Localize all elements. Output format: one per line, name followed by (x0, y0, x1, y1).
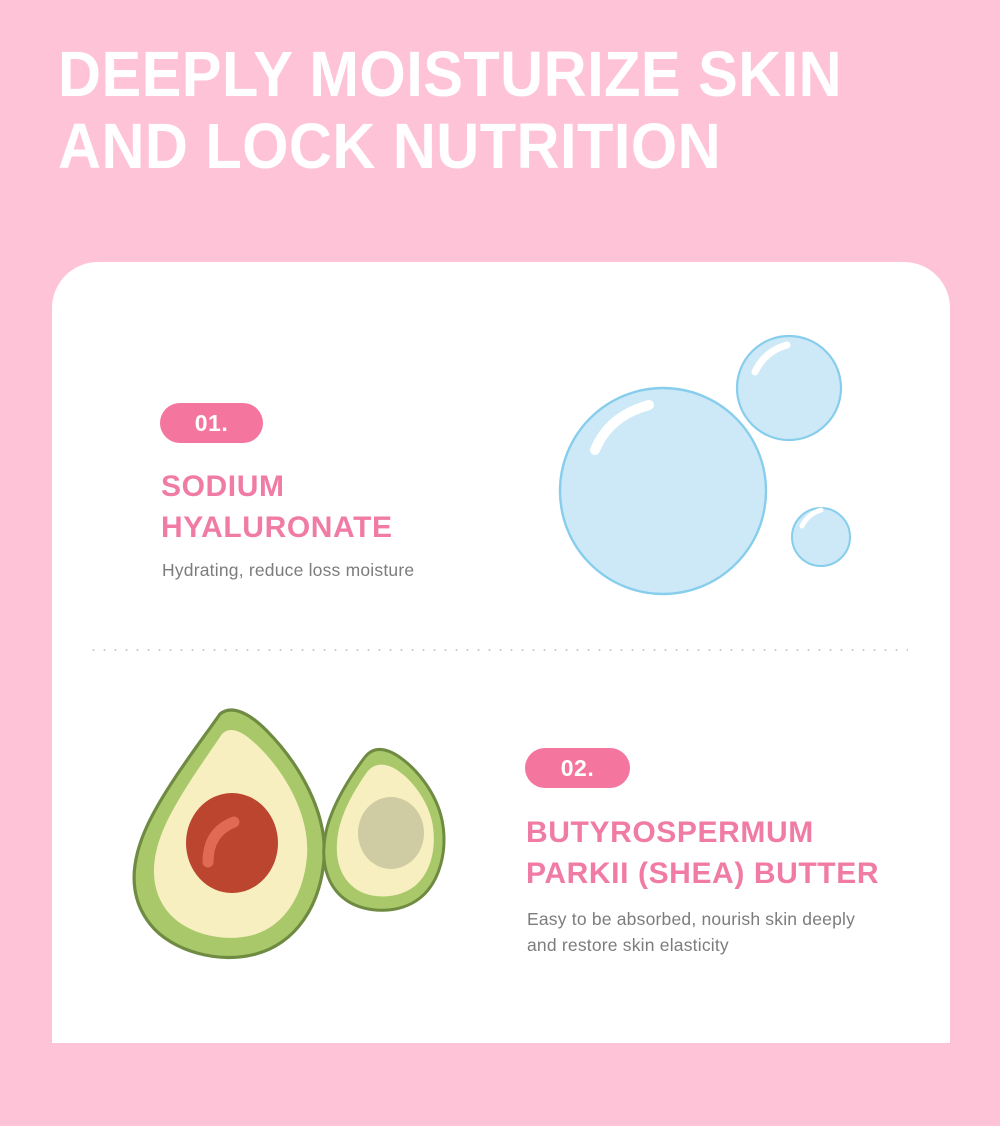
badge-label-01: 01. (195, 410, 228, 437)
avocado-large-pit (186, 793, 278, 893)
ingredient-name-02: BUTYROSPERMUM PARKII (SHEA) BUTTER (526, 812, 926, 894)
bubbles-illustration (543, 330, 873, 610)
ingredient-number-badge-02: 02. (525, 748, 630, 788)
badge-label-02: 02. (561, 755, 594, 782)
ingredient-description-02: Easy to be absorbed, nourish skin deeply… (527, 906, 927, 958)
ingredient-description-01: Hydrating, reduce loss moisture (162, 557, 542, 583)
bubble-large (560, 388, 766, 594)
ingredient-name-01: SODIUM HYALURONATE (161, 466, 491, 548)
ingredient-number-badge-01: 01. (160, 403, 263, 443)
avocado-illustration (110, 700, 480, 980)
page-title: DEEPLY MOISTURIZE SKIN AND LOCK NUTRITIO… (58, 38, 895, 182)
bubble-small (792, 508, 850, 566)
section-divider (88, 649, 908, 651)
bubble-medium (737, 336, 841, 440)
avocado-small-pit (358, 797, 424, 869)
